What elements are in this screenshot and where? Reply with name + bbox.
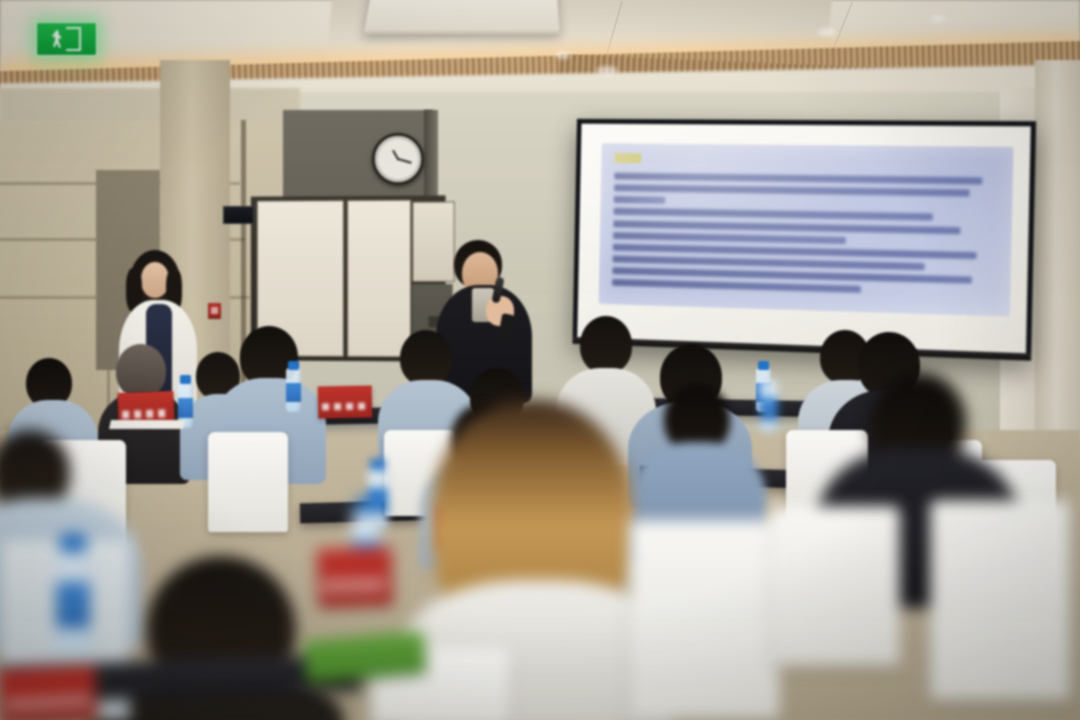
slide-text-line <box>614 208 934 221</box>
water-bottle <box>760 380 778 432</box>
slide-text-block <box>612 171 998 308</box>
water-bottle <box>286 368 301 412</box>
cabinet-door-small[interactable] <box>412 201 454 282</box>
bottle-label <box>760 398 778 420</box>
attendee-head-gray-hair <box>116 344 166 398</box>
bottle-label <box>56 582 90 628</box>
water-bottle <box>56 548 90 652</box>
name-card <box>0 666 97 720</box>
chair[interactable] <box>208 432 288 532</box>
projection-screen <box>572 119 1036 361</box>
chair[interactable] <box>930 500 1070 700</box>
slide-text-line <box>612 279 861 293</box>
ceiling-downlight <box>596 66 618 75</box>
name-card-stand <box>109 420 185 429</box>
wall-column-right <box>1035 60 1080 440</box>
bottle-cap <box>288 361 299 370</box>
exit-door-icon <box>66 27 81 51</box>
slide-text-line <box>613 232 846 244</box>
exit-sign <box>36 22 97 56</box>
slide-text-line <box>614 196 665 204</box>
name-card-text <box>322 403 367 411</box>
attendee-head <box>400 330 452 386</box>
wall-clock <box>372 133 424 185</box>
name-card-text <box>8 695 89 711</box>
running-person-icon <box>52 30 63 48</box>
chair[interactable] <box>770 506 900 666</box>
bottle-cap <box>356 498 377 513</box>
slide-text-line <box>613 220 961 234</box>
bottle-label <box>286 383 301 402</box>
slide-text-line <box>614 184 970 196</box>
face-front <box>141 262 169 298</box>
fire-alarm-call-point[interactable] <box>208 303 221 319</box>
clock-ticks <box>375 136 421 182</box>
bottle-cap <box>758 361 769 370</box>
bottle-label <box>178 398 193 418</box>
bottle-cap <box>180 375 191 384</box>
projector-housing <box>364 0 560 34</box>
slide-text-line <box>614 173 982 185</box>
attendee-head <box>580 316 632 374</box>
conference-room-photo <box>0 0 1080 720</box>
ceiling-downlight <box>556 52 570 59</box>
bottle-cap <box>60 534 86 552</box>
chair[interactable] <box>630 520 780 720</box>
wall-sign-plate <box>223 206 254 224</box>
cabinet-door[interactable] <box>347 200 411 358</box>
name-card <box>317 547 393 608</box>
ceiling-downlight <box>930 15 946 22</box>
slide-highlight-marker <box>615 153 642 163</box>
presentation-slide <box>599 143 1014 316</box>
name-card-text <box>123 410 170 419</box>
bottle-cap <box>370 459 385 470</box>
ceiling-downlight <box>818 28 836 36</box>
name-card <box>318 386 373 419</box>
projection-screen-surface <box>577 124 1031 355</box>
name-card-text <box>324 578 387 593</box>
